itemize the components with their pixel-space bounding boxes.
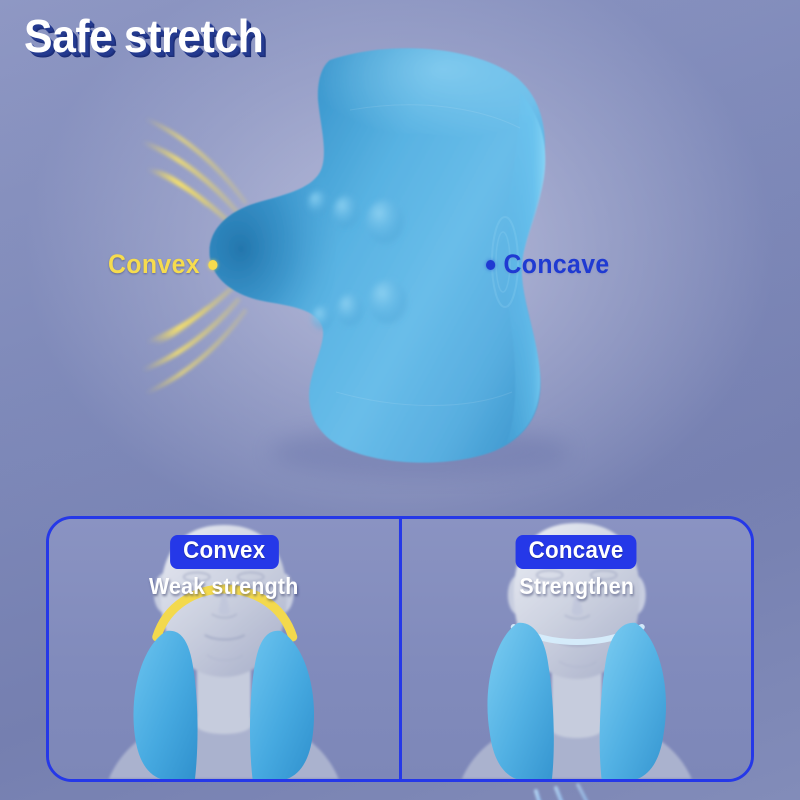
convex-dot-marker — [208, 260, 217, 270]
convex-panel: Convex Weak strength — [49, 519, 399, 779]
concave-panel: Concave Strengthen — [402, 519, 752, 779]
concave-panel-illustration — [402, 519, 752, 779]
callout-concave: Concave — [486, 249, 610, 280]
product-marketing-image: Safe stretch Convex Concave — [0, 0, 800, 800]
callout-convex-label: Convex — [108, 249, 200, 280]
callout-convex: Convex — [108, 249, 217, 280]
comparison-panels: Convex Weak strength — [46, 516, 754, 782]
convex-panel-illustration — [49, 519, 399, 779]
concave-dot-marker — [486, 260, 495, 270]
callout-concave-label: Concave — [503, 249, 609, 280]
